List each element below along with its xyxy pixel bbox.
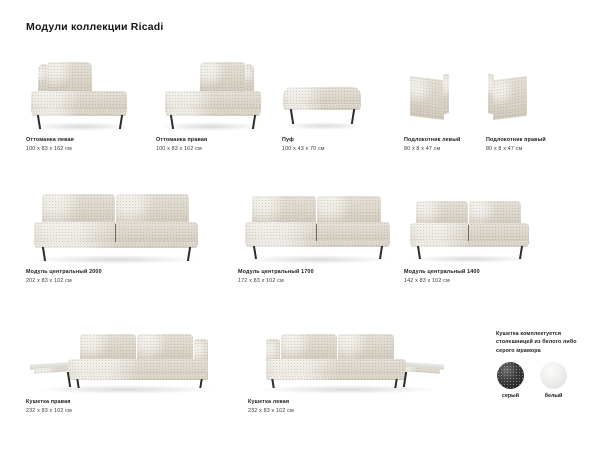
product-module-1400[interactable]: Модуль центральный 1400 142 x 83 x 102 с…: [404, 199, 536, 262]
armrest-left-icon: [404, 60, 474, 130]
product-name: Модуль центральный 1700: [238, 270, 314, 276]
product-module-1700[interactable]: Модуль центральный 1700 172 x 83 x 102 с…: [238, 194, 398, 262]
product-caption: Кушетка правая 232 x 83 x 102 см: [26, 400, 72, 415]
product-caption: Пуф 100 x 43 x 70 см: [282, 138, 325, 153]
product-dimensions: 202 x 83 x 102 см: [26, 279, 102, 285]
product-caption: Подлокотник левый 80 x 8 x 47 см: [404, 138, 461, 153]
product-dimensions: 80 x 8 x 47 см: [404, 147, 461, 153]
product-armrest-right[interactable]: Подлокотник правый 80 x 8 x 47 см: [486, 60, 556, 130]
product-name: Пуф: [282, 138, 325, 144]
module-1400-icon: [404, 199, 536, 262]
product-caption: Кушетка левая 232 x 83 x 102 см: [248, 400, 294, 415]
armrest-right-icon: [486, 60, 556, 130]
product-dimensions: 80 x 8 x 47 см: [486, 147, 546, 153]
product-dimensions: 232 x 83 x 102 см: [26, 409, 72, 415]
product-name: Модуль центральный 2000: [26, 270, 102, 276]
product-name: Оттоманка правая: [156, 138, 207, 144]
marble-swatches: [497, 362, 567, 389]
ottoman-left-icon: [26, 60, 136, 130]
product-ottoman-right[interactable]: Оттоманка правая 100 x 83 x 162 см: [156, 60, 266, 130]
product-name: Подлокотник левый: [404, 138, 461, 144]
product-name: Кушетка правая: [26, 400, 72, 406]
product-module-2000[interactable]: Модуль центральный 2000 202 x 83 x 102 с…: [26, 192, 206, 262]
product-dimensions: 142 x 83 x 102 см: [404, 279, 480, 285]
swatch-grey-label: серый: [497, 393, 524, 399]
product-caption: Оттоманка правая 100 x 83 x 162 см: [156, 138, 207, 153]
product-ottoman-left[interactable]: Оттоманка левая 100 x 83 x 162 см: [26, 60, 136, 130]
product-dimensions: 232 x 83 x 102 см: [248, 409, 294, 415]
product-caption: Модуль центральный 2000 202 x 83 x 102 с…: [26, 270, 102, 285]
product-caption: Подлокотник правый 80 x 8 x 47 см: [486, 138, 546, 153]
pouf-icon: [282, 60, 368, 130]
product-name: Подлокотник правый: [486, 138, 546, 144]
product-dimensions: 100 x 83 x 162 см: [156, 147, 207, 153]
product-dimensions: 172 x 83 x 102 см: [238, 279, 314, 285]
catalog-page: Модули коллекции Ricadi Оттоманка левая …: [0, 0, 600, 450]
product-name: Модуль центральный 1400: [404, 270, 480, 276]
ottoman-right-icon: [156, 60, 266, 130]
swatch-white-label: белый: [540, 393, 567, 399]
product-dimensions: 100 x 43 x 70 см: [282, 147, 325, 153]
swatch-grey-marble[interactable]: [497, 362, 524, 389]
product-pouf[interactable]: Пуф 100 x 43 x 70 см: [282, 60, 368, 130]
product-caption: Оттоманка левая 100 x 83 x 162 см: [26, 138, 74, 153]
product-caption: Модуль центральный 1400 142 x 83 x 102 с…: [404, 270, 480, 285]
product-name: Оттоманка левая: [26, 138, 74, 144]
swatch-white-marble[interactable]: [540, 362, 567, 389]
daybed-right-icon: [26, 322, 226, 394]
module-2000-icon: [26, 192, 206, 262]
module-1700-icon: [238, 194, 398, 262]
marble-note: Кушетка комплектуется столешницей из бел…: [496, 330, 594, 355]
daybed-left-icon: [248, 322, 448, 394]
marble-note-text: Кушетка комплектуется столешницей из бел…: [496, 330, 594, 355]
product-daybed-left[interactable]: Кушетка левая 232 x 83 x 102 см: [248, 322, 448, 394]
product-daybed-right[interactable]: Кушетка правая 232 x 83 x 102 см: [26, 322, 226, 394]
product-name: Кушетка левая: [248, 400, 294, 406]
page-title: Модули коллекции Ricadi: [26, 21, 164, 33]
product-caption: Модуль центральный 1700 172 x 83 x 102 с…: [238, 270, 314, 285]
marble-swatch-labels: серый белый: [497, 393, 567, 399]
product-armrest-left[interactable]: Подлокотник левый 80 x 8 x 47 см: [404, 60, 474, 130]
product-dimensions: 100 x 83 x 162 см: [26, 147, 74, 153]
